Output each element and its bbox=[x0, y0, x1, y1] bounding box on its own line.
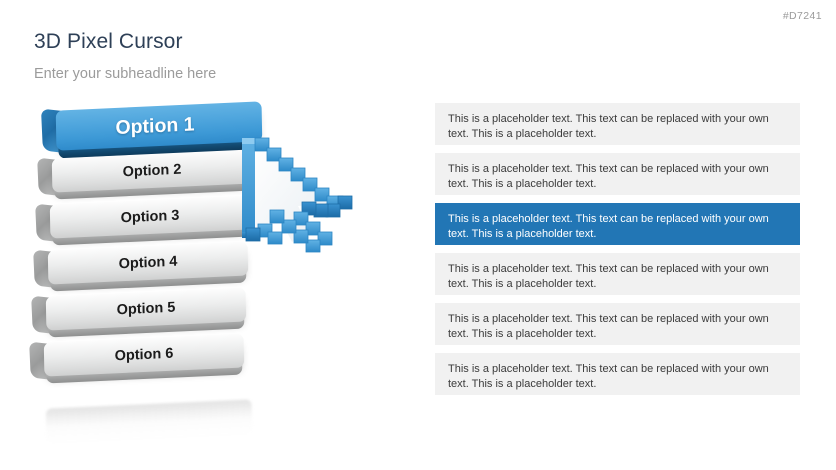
document-code: #D7241 bbox=[783, 10, 822, 22]
stack-bar-option-5[interactable]: Option 5 bbox=[32, 292, 250, 338]
stack-bar-option-4[interactable]: Option 4 bbox=[34, 246, 252, 292]
stack-bar-option-6[interactable]: Option 6 bbox=[30, 338, 248, 384]
stack-bar-option-2[interactable]: Option 2 bbox=[38, 154, 256, 200]
text-box[interactable]: This is a placeholder text. This text ca… bbox=[435, 353, 800, 395]
pixel-cursor-icon bbox=[238, 132, 378, 257]
text-box[interactable]: This is a placeholder text. This text ca… bbox=[435, 103, 800, 145]
slide-canvas: #D7241 3D Pixel Cursor Enter your subhea… bbox=[0, 0, 836, 470]
placeholder-text-list: This is a placeholder text. This text ca… bbox=[435, 103, 800, 403]
text-box[interactable]: This is a placeholder text. This text ca… bbox=[435, 153, 800, 195]
text-box-active[interactable]: This is a placeholder text. This text ca… bbox=[435, 203, 800, 245]
page-subtitle: Enter your subheadline here bbox=[34, 66, 216, 82]
page-title: 3D Pixel Cursor bbox=[34, 30, 183, 54]
text-box[interactable]: This is a placeholder text. This text ca… bbox=[435, 303, 800, 345]
stack-bar-option-3[interactable]: Option 3 bbox=[36, 200, 254, 246]
text-box[interactable]: This is a placeholder text. This text ca… bbox=[435, 253, 800, 295]
stack-bar-option-1[interactable]: Option 1 bbox=[42, 106, 260, 152]
